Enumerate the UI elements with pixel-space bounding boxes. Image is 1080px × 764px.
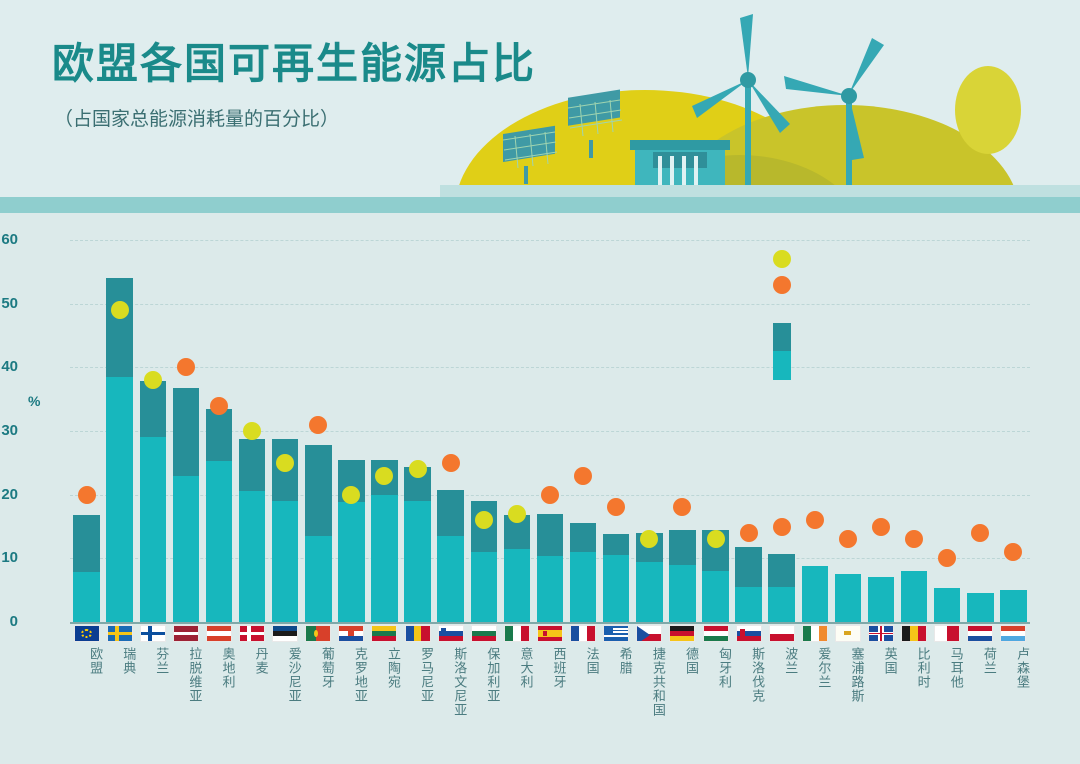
target-marker-克罗地亚[interactable] <box>342 486 360 504</box>
x-axis-item-克罗地亚[interactable]: 克罗地亚 <box>335 625 368 703</box>
y-axis-unit-label: % <box>28 393 40 409</box>
x-axis-item-斯洛伐克[interactable]: 斯洛伐克 <box>732 625 765 703</box>
flag-icon-爱沙尼亚 <box>272 625 298 642</box>
flag-icon-希腊 <box>603 625 629 642</box>
x-axis-item-丹麦[interactable]: 丹麦 <box>236 625 269 675</box>
bar-欧盟[interactable] <box>73 515 99 622</box>
target-marker-拉脱维亚[interactable] <box>177 358 195 376</box>
target-marker-匈牙利[interactable] <box>707 530 725 548</box>
flag-icon-卢森堡 <box>1000 625 1026 642</box>
bar-塞浦路斯[interactable] <box>835 574 861 622</box>
bar-segment-low <box>371 495 397 622</box>
x-axis-item-荷兰[interactable]: 荷兰 <box>964 625 997 675</box>
flag-icon-保加利亚 <box>471 625 497 642</box>
ground-strip <box>440 185 1080 197</box>
bar-瑞典[interactable] <box>106 278 132 622</box>
y-axis-tick-0: 0 <box>0 613 18 630</box>
bar-英国[interactable] <box>868 577 894 622</box>
flag-icon-斯洛文尼亚 <box>438 625 464 642</box>
flag-icon-斯洛伐克 <box>736 625 762 642</box>
x-axis-item-马耳他[interactable]: 马耳他 <box>931 625 964 689</box>
bar-segment-low <box>239 491 265 622</box>
x-axis-item-奥地利[interactable]: 奥地利 <box>202 625 235 689</box>
gridline <box>70 304 1030 305</box>
target-marker-芬兰[interactable] <box>144 371 162 389</box>
target-marker-斯洛文尼亚[interactable] <box>442 454 460 472</box>
x-axis-item-罗马尼亚[interactable]: 罗马尼亚 <box>401 625 434 703</box>
target-marker-立陶宛[interactable] <box>375 467 393 485</box>
y-axis-tick-30: 30 <box>0 422 18 439</box>
target-marker-马耳他[interactable] <box>938 549 956 567</box>
bar-segment-low <box>669 565 695 622</box>
bar-拉脱维亚[interactable] <box>173 388 199 622</box>
flag-icon-瑞典 <box>107 625 133 642</box>
flag-icon-德国 <box>669 625 695 642</box>
bar-segment-high <box>768 554 794 587</box>
x-axis-label: 西班牙 <box>533 647 566 689</box>
x-axis-item-欧盟[interactable]: 欧盟 <box>70 625 103 675</box>
y-axis-tick-60: 60 <box>0 231 18 248</box>
legend-swatch-top <box>773 323 791 352</box>
bar-比利时[interactable] <box>901 571 927 622</box>
bar-segment-low <box>437 536 463 622</box>
legend-swatch-bottom <box>773 351 791 380</box>
bar-segment-high <box>603 534 629 555</box>
flag-icon-立陶宛 <box>371 625 397 642</box>
bar-爱尔兰[interactable] <box>802 566 828 622</box>
bar-segment-high <box>206 409 232 461</box>
target-marker-波兰[interactable] <box>773 518 791 536</box>
flag-icon-罗马尼亚 <box>405 625 431 642</box>
x-axis-item-拉脱维亚[interactable]: 拉脱维亚 <box>169 625 202 703</box>
x-axis-label: 爱沙尼亚 <box>269 647 302 703</box>
x-axis-label: 保加利亚 <box>467 647 500 703</box>
x-axis-label: 荷兰 <box>964 647 997 675</box>
flag-icon-马耳他 <box>934 625 960 642</box>
x-axis-label: 葡萄牙 <box>302 647 335 689</box>
x-axis-item-爱尔兰[interactable]: 爱尔兰 <box>798 625 831 689</box>
bar-荷兰[interactable] <box>967 593 993 622</box>
flag-icon-捷克共和国 <box>636 625 662 642</box>
flag-icon-波兰 <box>769 625 795 642</box>
bar-segment-high <box>140 381 166 437</box>
renewable-energy-illustration <box>440 0 1080 197</box>
x-axis-label: 德国 <box>666 647 699 675</box>
x-axis-item-英国[interactable]: 英国 <box>864 625 897 675</box>
target-marker-爱尔兰[interactable] <box>806 511 824 529</box>
x-axis-label: 马耳他 <box>931 647 964 689</box>
target-marker-奥地利[interactable] <box>210 397 228 415</box>
target-marker-塞浦路斯[interactable] <box>839 530 857 548</box>
plot-area: 0102030405060 <box>70 240 1030 622</box>
bar-法国[interactable] <box>570 523 596 622</box>
bar-罗马尼亚[interactable] <box>404 467 430 622</box>
target-marker-斯洛伐克[interactable] <box>740 524 758 542</box>
flag-icon-克罗地亚 <box>338 625 364 642</box>
bar-segment-low <box>835 574 861 622</box>
target-marker-欧盟[interactable] <box>78 486 96 504</box>
x-axis-item-捷克共和国[interactable]: 捷克共和国 <box>633 625 666 717</box>
bar-segment-high <box>570 523 596 552</box>
x-axis-label: 拉脱维亚 <box>169 647 202 703</box>
x-axis-label: 希腊 <box>600 647 633 675</box>
x-axis-label: 斯洛伐克 <box>732 647 765 703</box>
bar-segment-low <box>901 571 927 622</box>
bar-segment-high <box>173 388 199 476</box>
x-axis-item-瑞典[interactable]: 瑞典 <box>103 625 136 675</box>
x-axis-label: 爱尔兰 <box>798 647 831 689</box>
x-axis-item-斯洛文尼亚[interactable]: 斯洛文尼亚 <box>434 625 467 717</box>
x-axis-label: 斯洛文尼亚 <box>434 647 467 717</box>
flag-icon-丹麦 <box>239 625 265 642</box>
bar-segment-low <box>735 587 761 622</box>
bar-德国[interactable] <box>669 530 695 622</box>
x-axis-item-立陶宛[interactable]: 立陶宛 <box>368 625 401 689</box>
bar-葡萄牙[interactable] <box>305 445 331 622</box>
y-axis-tick-40: 40 <box>0 358 18 375</box>
header-divider <box>0 197 1080 213</box>
x-axis-category-strip: 欧盟瑞典芬兰拉脱维亚奥地利丹麦爱沙尼亚葡萄牙克罗地亚立陶宛罗马尼亚斯洛文尼亚保加… <box>70 625 1030 764</box>
x-axis-item-塞浦路斯[interactable]: 塞浦路斯 <box>831 625 864 703</box>
x-axis-label: 丹麦 <box>236 647 269 675</box>
x-axis-item-匈牙利[interactable]: 匈牙利 <box>699 625 732 689</box>
bar-segment-low <box>73 572 99 622</box>
target-marker-爱沙尼亚[interactable] <box>276 454 294 472</box>
x-axis-label: 奥地利 <box>202 647 235 689</box>
bar-segment-high <box>239 439 265 492</box>
y-axis-tick-20: 20 <box>0 486 18 503</box>
y-axis-tick-10: 10 <box>0 549 18 566</box>
flag-icon-意大利 <box>504 625 530 642</box>
gridline <box>70 367 1030 368</box>
x-axis-label: 法国 <box>567 647 600 675</box>
bar-segment-low <box>537 556 563 622</box>
target-marker-保加利亚[interactable] <box>475 511 493 529</box>
target-marker-法国[interactable] <box>574 467 592 485</box>
bar-segment-low <box>106 377 132 622</box>
flag-icon-欧盟 <box>74 625 100 642</box>
x-axis-label: 波兰 <box>765 647 798 675</box>
flag-icon-芬兰 <box>140 625 166 642</box>
bar-西班牙[interactable] <box>537 514 563 622</box>
flag-icon-塞浦路斯 <box>835 625 861 642</box>
x-axis-item-芬兰[interactable]: 芬兰 <box>136 625 169 675</box>
header-banner: 欧盟各国可再生能源占比 （占国家总能源消耗量的百分比） <box>0 0 1080 197</box>
bar-segment-low <box>1000 590 1026 622</box>
bar-segment-low <box>802 566 828 622</box>
x-axis-item-德国[interactable]: 德国 <box>666 625 699 675</box>
bar-segment-low <box>504 549 530 622</box>
bar-segment-low <box>338 502 364 622</box>
x-axis-line <box>70 622 1030 624</box>
flag-icon-匈牙利 <box>703 625 729 642</box>
bar-卢森堡[interactable] <box>1000 590 1026 622</box>
flag-icon-比利时 <box>901 625 927 642</box>
target-marker-英国[interactable] <box>872 518 890 536</box>
bar-segment-low <box>140 437 166 622</box>
bar-希腊[interactable] <box>603 534 629 622</box>
page-subtitle: （占国家总能源消耗量的百分比） <box>54 104 339 131</box>
bar-segment-high <box>537 514 563 557</box>
target-marker-丹麦[interactable] <box>243 422 261 440</box>
infographic-page: 欧盟各国可再生能源占比 （占国家总能源消耗量的百分比） <box>0 0 1080 764</box>
target-marker-德国[interactable] <box>673 498 691 516</box>
bar-segment-low <box>768 587 794 622</box>
bar-斯洛文尼亚[interactable] <box>437 490 463 622</box>
x-axis-label: 匈牙利 <box>699 647 732 689</box>
bar-segment-high <box>669 530 695 565</box>
x-axis-label: 英国 <box>864 647 897 675</box>
bar-segment-low <box>868 577 894 622</box>
bar-segment-low <box>206 461 232 622</box>
target-marker-瑞典[interactable] <box>111 301 129 319</box>
chart-container: % 0102030405060 欧盟瑞典芬兰拉脱维亚奥地利丹麦爱沙尼亚葡萄牙克罗… <box>0 213 1080 764</box>
x-axis-label: 卢森堡 <box>997 647 1030 689</box>
bar-segment-low <box>636 562 662 622</box>
bar-马耳他[interactable] <box>934 588 960 622</box>
bar-segment-low <box>272 501 298 622</box>
bar-segment-high <box>106 278 132 377</box>
bar-芬兰[interactable] <box>140 381 166 622</box>
x-axis-item-法国[interactable]: 法国 <box>567 625 600 675</box>
flag-icon-西班牙 <box>537 625 563 642</box>
x-axis-item-西班牙[interactable]: 西班牙 <box>533 625 566 689</box>
bar-斯洛伐克[interactable] <box>735 547 761 622</box>
x-axis-label: 欧盟 <box>70 647 103 675</box>
bar-segment-low <box>471 552 497 622</box>
legend-marker-orange <box>773 276 791 294</box>
bar-segment-high <box>735 547 761 587</box>
target-marker-葡萄牙[interactable] <box>309 416 327 434</box>
legend-swatch <box>773 323 791 380</box>
x-axis-item-葡萄牙[interactable]: 葡萄牙 <box>302 625 335 689</box>
bar-segment-low <box>404 501 430 622</box>
bar-意大利[interactable] <box>504 515 530 622</box>
flag-icon-英国 <box>868 625 894 642</box>
bar-segment-low <box>173 476 199 622</box>
flag-icon-葡萄牙 <box>305 625 331 642</box>
x-axis-label: 瑞典 <box>103 647 136 675</box>
x-axis-item-爱沙尼亚[interactable]: 爱沙尼亚 <box>269 625 302 703</box>
flag-icon-爱尔兰 <box>802 625 828 642</box>
x-axis-label: 克罗地亚 <box>335 647 368 703</box>
flag-icon-拉脱维亚 <box>173 625 199 642</box>
bar-segment-low <box>570 552 596 622</box>
y-axis-tick-50: 50 <box>0 295 18 312</box>
x-axis-label: 塞浦路斯 <box>831 647 864 703</box>
bar-波兰[interactable] <box>768 554 794 622</box>
bar-克罗地亚[interactable] <box>338 460 364 622</box>
x-axis-item-希腊[interactable]: 希腊 <box>600 625 633 675</box>
x-axis-label: 立陶宛 <box>368 647 401 689</box>
gridline <box>70 240 1030 241</box>
bar-segment-low <box>305 536 331 622</box>
legend-marker-yellow <box>773 250 791 268</box>
x-axis-label: 罗马尼亚 <box>401 647 434 703</box>
bar-segment-low <box>934 588 960 622</box>
x-axis-label: 芬兰 <box>136 647 169 675</box>
x-axis-item-波兰[interactable]: 波兰 <box>765 625 798 675</box>
flag-icon-荷兰 <box>967 625 993 642</box>
x-axis-item-保加利亚[interactable]: 保加利亚 <box>467 625 500 703</box>
target-marker-西班牙[interactable] <box>541 486 559 504</box>
target-marker-罗马尼亚[interactable] <box>409 460 427 478</box>
x-axis-label: 捷克共和国 <box>633 647 666 717</box>
bar-奥地利[interactable] <box>206 409 232 622</box>
flag-icon-法国 <box>570 625 596 642</box>
target-marker-荷兰[interactable] <box>971 524 989 542</box>
bar-segment-high <box>73 515 99 572</box>
target-marker-意大利[interactable] <box>508 505 526 523</box>
bar-丹麦[interactable] <box>239 439 265 622</box>
x-axis-label: 意大利 <box>500 647 533 689</box>
bar-segment-low <box>967 593 993 622</box>
target-marker-希腊[interactable] <box>607 498 625 516</box>
flag-icon-奥地利 <box>206 625 232 642</box>
bar-segment-low <box>702 571 728 622</box>
bar-segment-low <box>603 555 629 622</box>
target-marker-比利时[interactable] <box>905 530 923 548</box>
x-axis-item-意大利[interactable]: 意大利 <box>500 625 533 689</box>
bar-segment-high <box>305 445 331 536</box>
x-axis-label: 比利时 <box>898 647 931 689</box>
x-axis-item-比利时[interactable]: 比利时 <box>898 625 931 689</box>
bar-segment-high <box>437 490 463 536</box>
x-axis-item-卢森堡[interactable]: 卢森堡 <box>997 625 1030 689</box>
